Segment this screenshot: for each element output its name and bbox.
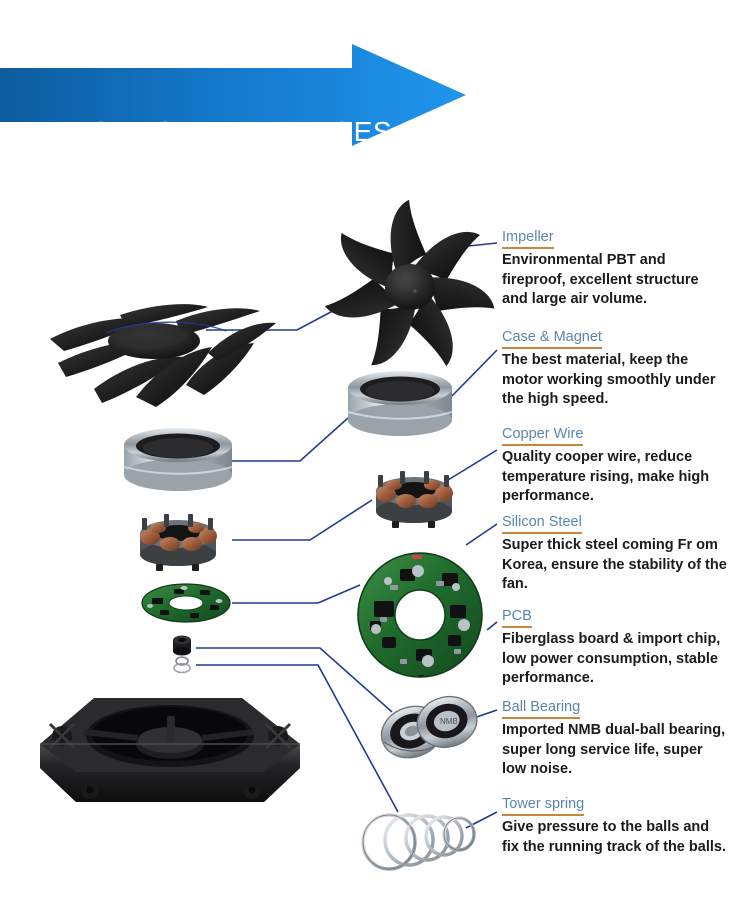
callout-body: The best material, keep the motor workin… bbox=[502, 351, 727, 410]
retaining-clip-small bbox=[174, 657, 190, 673]
svg-text:NMB: NMB bbox=[440, 717, 458, 726]
callout-body: Imported NMB dual-ball bearing, super lo… bbox=[502, 721, 727, 780]
callout-heading: Tower spring bbox=[502, 795, 584, 816]
callout-body: Fiberglass board & import chip, low powe… bbox=[502, 630, 727, 689]
callout-silicon-steel: Silicon Steel Super thick steel coming F… bbox=[502, 513, 727, 595]
callout-heading: Silicon Steel bbox=[502, 513, 582, 534]
callout-pcb: PCB Fiberglass board & import chip, low … bbox=[502, 607, 727, 689]
product-advantages-infographic: PRODUCT ADVANTAGES > bbox=[0, 0, 750, 904]
ball-bearing-pair: NMB bbox=[375, 690, 482, 765]
impeller-angled-view bbox=[50, 304, 276, 407]
callout-heading: Case & Magnet bbox=[502, 328, 602, 349]
stator-copper-winding-right bbox=[376, 471, 453, 528]
callout-heading: Copper Wire bbox=[502, 425, 583, 446]
callout-case-magnet: Case & Magnet The best material, keep th… bbox=[502, 328, 727, 410]
pcb-board-right bbox=[358, 553, 482, 677]
callout-impeller: Impeller Environmental PBT and fireproof… bbox=[502, 228, 727, 310]
callout-tower-spring: Tower spring Give pressure to the balls … bbox=[502, 795, 727, 857]
pcb-board-left bbox=[142, 584, 230, 622]
callout-heading: Ball Bearing bbox=[502, 698, 580, 719]
callout-ball-bearing: Ball Bearing Imported NMB dual-ball bear… bbox=[502, 698, 727, 780]
callout-body: Super thick steel coming Fr om Korea, en… bbox=[502, 536, 727, 595]
callout-body: Quality cooper wire, reduce temperature … bbox=[502, 448, 727, 507]
callout-copper-wire: Copper Wire Quality cooper wire, reduce … bbox=[502, 425, 727, 507]
magnet-case-left bbox=[124, 428, 232, 491]
callout-heading: PCB bbox=[502, 607, 532, 628]
callout-heading: Impeller bbox=[502, 228, 554, 249]
impeller-front-view bbox=[324, 198, 497, 368]
callout-body: Environmental PBT and fireproof, excelle… bbox=[502, 251, 727, 310]
bushing-small bbox=[173, 636, 191, 656]
magnet-case-right bbox=[348, 371, 452, 436]
fan-frame-housing bbox=[40, 698, 300, 802]
tower-spring-coil bbox=[363, 815, 474, 869]
stator-copper-winding-left bbox=[140, 514, 217, 571]
callout-body: Give pressure to the balls and fix the r… bbox=[502, 818, 727, 857]
